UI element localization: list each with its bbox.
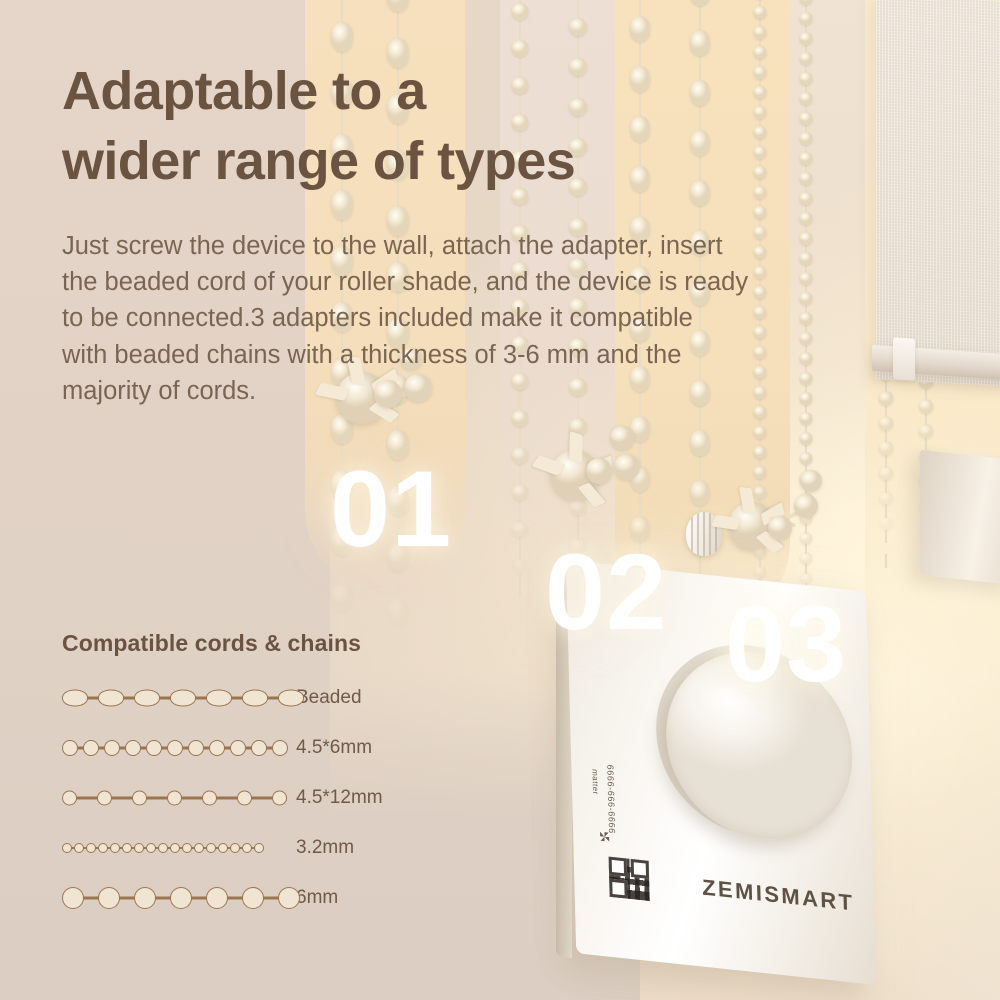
legend-row: 4.5*6mm	[62, 729, 402, 767]
legend-row: 3.2mm	[62, 829, 402, 867]
adapter-2-bead	[610, 426, 634, 450]
legend-label: 4.5*12mm	[296, 787, 383, 809]
brand-logo: ZEMISMART	[702, 874, 855, 916]
legend-row-list: Beaded4.5*6mm4.5*12mm3.2mm6mm	[62, 679, 402, 917]
legend-label: 6mm	[296, 887, 338, 909]
step-number-02: 02	[545, 538, 667, 646]
legend-label: Beaded	[296, 687, 362, 709]
legend-label: 4.5*6mm	[296, 737, 372, 759]
adapter-2	[530, 428, 660, 523]
headline-line-1: Adaptable to a	[62, 56, 762, 126]
adapter-3-bead	[794, 494, 818, 518]
adapter-3-bead	[800, 470, 822, 492]
adapter-3-bead	[768, 516, 792, 540]
body-line-2: the beaded cord of your roller shade, an…	[62, 264, 932, 300]
legend-row: 4.5*12mm	[62, 779, 402, 817]
device-serial-number: 6666-666-6666	[605, 764, 617, 834]
adapter-2-bead	[614, 454, 640, 480]
compatibility-legend: Compatible cords & chains Beaded4.5*6mm4…	[62, 630, 402, 929]
legend-title: Compatible cords & chains	[62, 630, 402, 657]
body-line-1: Just screw the device to the wall, attac…	[62, 228, 932, 264]
body-line-5: majority of cords.	[62, 373, 932, 409]
chain-glyph-round-touching	[62, 735, 274, 761]
chain-glyph-oval-linked	[62, 685, 274, 711]
chain-glyph-tiny-round	[62, 835, 274, 861]
page-title: Adaptable to a wider range of types	[62, 56, 762, 196]
legend-row: Beaded	[62, 679, 402, 717]
step-number-03: 03	[725, 590, 847, 698]
legend-label: 3.2mm	[296, 837, 354, 859]
adapter-3	[690, 488, 840, 583]
wall-sconce	[920, 450, 1000, 585]
legend-row: 6mm	[62, 879, 402, 917]
body-line-4: with beaded chains with a thickness of 3…	[62, 337, 932, 373]
chain-glyph-large-round-link	[62, 885, 274, 911]
chain-glyph-round-long-link	[62, 785, 274, 811]
adapter-2-bead	[586, 458, 612, 484]
product-feature-image: matter 6666-666-6666 ZEMISMART 01 02 03 …	[0, 0, 1000, 1000]
qr-code	[609, 857, 650, 901]
body-line-3: to be connected.3 adapters included make…	[62, 300, 932, 336]
description-paragraph: Just screw the device to the wall, attac…	[62, 228, 932, 409]
step-number-01: 01	[330, 455, 452, 563]
headline-line-2: wider range of types	[62, 126, 762, 196]
matter-certification-label: matter	[590, 769, 600, 796]
